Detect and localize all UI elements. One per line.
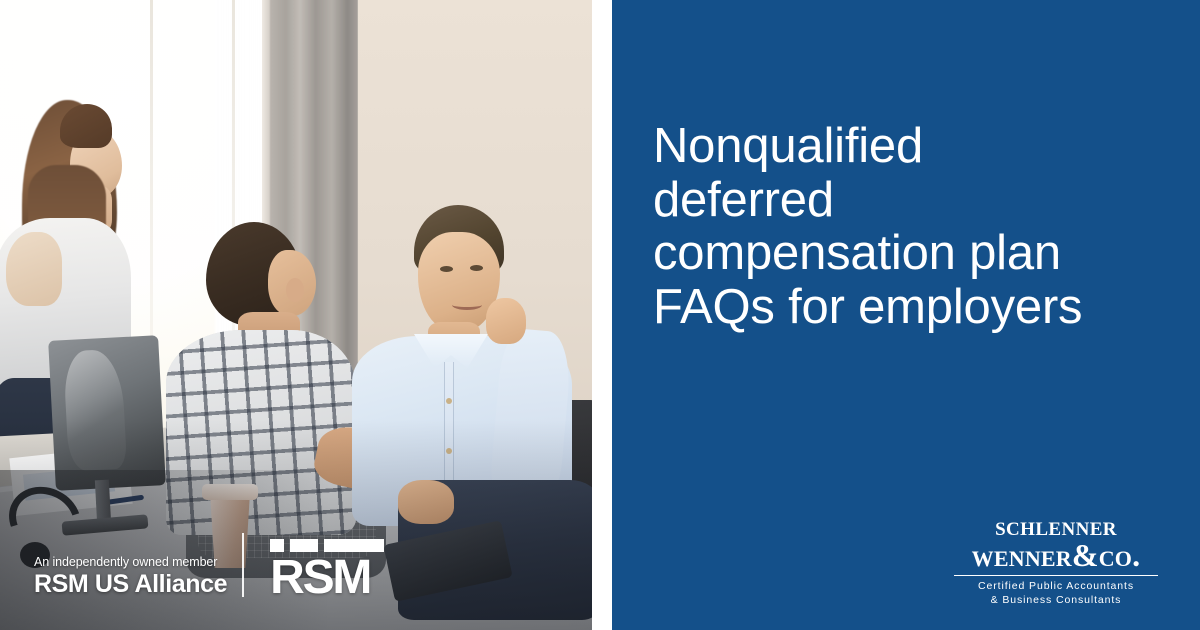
hero-photo: An independently owned member RSM US All… (0, 0, 592, 630)
person-man-back-ear (286, 278, 304, 302)
rsm-bar-medium-icon (290, 539, 318, 552)
person-woman-hair-front (60, 104, 112, 148)
rsm-alliance-name: RSM US Alliance (34, 570, 227, 598)
headline-line-1: Nonqualified (653, 120, 1158, 174)
page-title: Nonqualified deferred compensation plan … (653, 120, 1158, 335)
person-woman-shoulder (6, 232, 62, 306)
marketing-banner: An independently owned member RSM US All… (0, 0, 1200, 630)
rsm-bars-icon (270, 539, 384, 552)
rsm-member-line: An independently owned member (34, 555, 227, 569)
company-tagline-line-2: & Business Consultants (954, 594, 1158, 608)
rsm-brand-mark: RSM (244, 539, 384, 598)
person-man-blue-eye-right (470, 265, 483, 271)
rsm-alliance-text-block: An independently owned member RSM US All… (34, 555, 242, 598)
rsm-bar-short-icon (270, 539, 284, 552)
company-name-line-1: Schlenner (954, 513, 1158, 540)
schlenner-wenner-logo: Schlenner Wenner&Co. Certified Public Ac… (954, 513, 1158, 608)
headline-line-3: compensation plan (653, 227, 1158, 281)
rsm-us-alliance-logo: An independently owned member RSM US All… (34, 533, 384, 598)
person-man-blue-eye-left (440, 266, 453, 272)
rsm-wordmark: RSM (270, 558, 384, 597)
person-man-blue-hand-on-chin (486, 298, 526, 344)
logo-divider-rule (954, 575, 1158, 577)
headline-panel: Nonqualified deferred compensation plan … (612, 0, 1200, 630)
headline-line-4: FAQs for employers (653, 281, 1158, 335)
rsm-bar-long-icon (324, 539, 384, 552)
company-tagline-line-1: Certified Public Accountants (954, 580, 1158, 594)
company-name-line-2: Wenner&Co. (954, 539, 1158, 572)
person-man-blue-shirt-button (446, 398, 452, 404)
person-man-blue-mouth (452, 300, 482, 310)
headline-line-2: deferred (653, 174, 1158, 228)
